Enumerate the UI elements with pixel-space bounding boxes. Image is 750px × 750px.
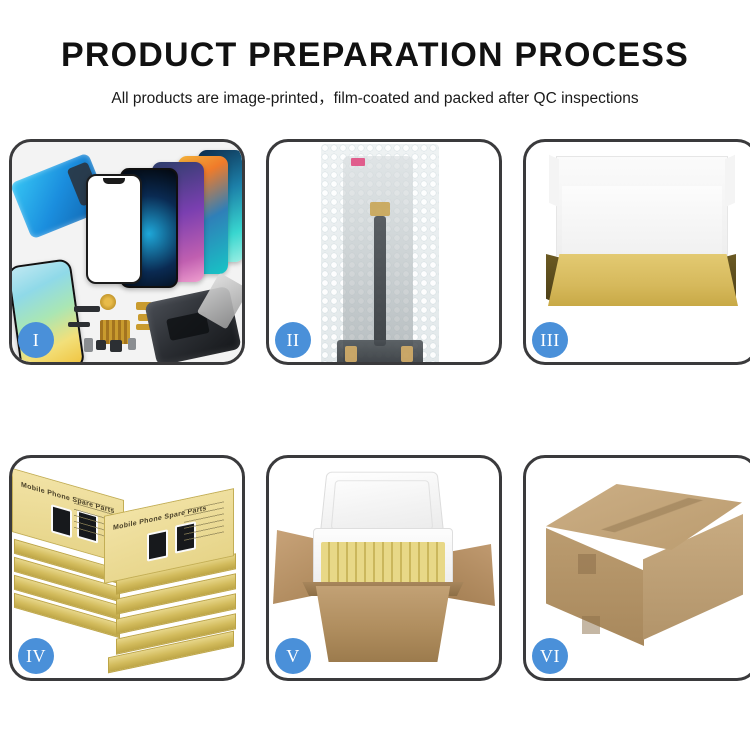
- wrapped-bottom-module-icon: [337, 340, 423, 362]
- step-card-1[interactable]: I: [9, 139, 245, 365]
- step-badge-5: V: [275, 638, 311, 674]
- step-card-3[interactable]: III: [523, 139, 750, 365]
- step-badge-2: II: [275, 322, 311, 358]
- bubble-wrap-bag-icon: [321, 144, 439, 362]
- step-card-6[interactable]: VI: [523, 455, 750, 681]
- speaker-coil-icon: [100, 294, 116, 310]
- step-badge-3: III: [532, 322, 568, 358]
- step-card-5[interactable]: V: [266, 455, 502, 681]
- step-badge-4: IV: [18, 638, 54, 674]
- wrapped-flex-cable-icon: [374, 216, 386, 346]
- inner-box-front-icon: [548, 254, 738, 306]
- product-preparation-page: PRODUCT PREPARATION PROCESS All products…: [0, 0, 750, 750]
- page-subtitle: All products are image-printed，film-coat…: [0, 86, 750, 108]
- pink-qc-label-icon: [351, 158, 365, 166]
- inner-box-liner-icon: [562, 186, 722, 260]
- step-card-2[interactable]: II: [266, 139, 502, 365]
- box-art-phone-1: [51, 504, 72, 538]
- step-badge-6: VI: [532, 638, 568, 674]
- carton-front-icon: [303, 586, 463, 662]
- sim-tray-icon: [84, 338, 93, 352]
- phone-white-frame-icon: [86, 174, 142, 284]
- step-badge-1: I: [18, 322, 54, 358]
- flex-cable-icon: [74, 306, 100, 312]
- carton-handle-tab-top-icon: [578, 554, 596, 574]
- packed-yellow-boxes-icon: [321, 542, 445, 586]
- step-card-4[interactable]: Mobile Phone Spare Parts Mobile Phone Sp…: [9, 455, 245, 681]
- ribbon-cable-icon: [68, 322, 90, 327]
- speaker-part-icon: [128, 338, 136, 350]
- button-part-icon: [96, 340, 106, 350]
- process-steps-grid: I II: [9, 139, 743, 681]
- wrapped-connector-icon: [370, 202, 390, 216]
- camera-module-icon: [110, 340, 122, 352]
- box-art-phone-3: [147, 529, 168, 561]
- page-title: PRODUCT PREPARATION PROCESS: [0, 36, 750, 75]
- page-header: PRODUCT PREPARATION PROCESS All products…: [0, 0, 750, 108]
- carton-handle-tab-bottom-icon: [582, 616, 600, 634]
